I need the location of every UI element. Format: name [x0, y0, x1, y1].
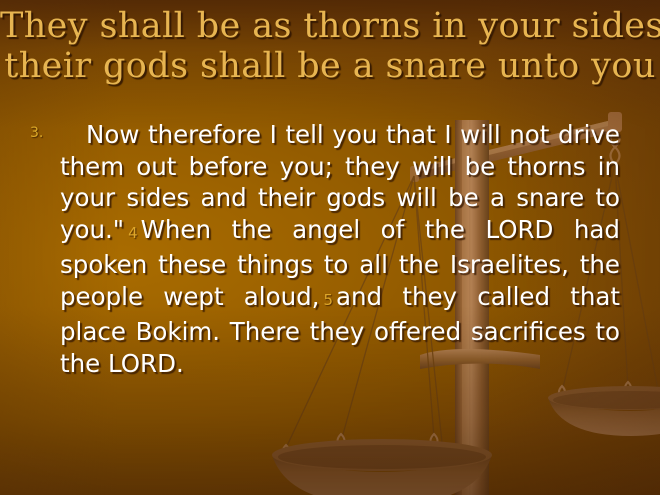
left-pan-hooks [283, 434, 438, 458]
verse-number-4: 4 [124, 224, 141, 242]
slide-body: 3. Now therefore I tell you that I will … [30, 119, 630, 379]
list-item-number: 3. [30, 119, 60, 142]
right-scale-pan [548, 386, 660, 436]
slide-title: They shall be as thorns in your sides, a… [0, 6, 660, 86]
title-line-1: They shall be as thorns in your sides, a… [0, 6, 660, 46]
scripture-paragraph: Now therefore I tell you that I will not… [60, 119, 630, 379]
left-scale-pan [272, 439, 492, 495]
title-line-2: their gods shall be a snare unto you [0, 46, 660, 86]
right-pan-hooks [559, 382, 631, 398]
verse-number-5: 5 [319, 291, 336, 309]
presentation-slide: They shall be as thorns in your sides, a… [0, 0, 660, 495]
